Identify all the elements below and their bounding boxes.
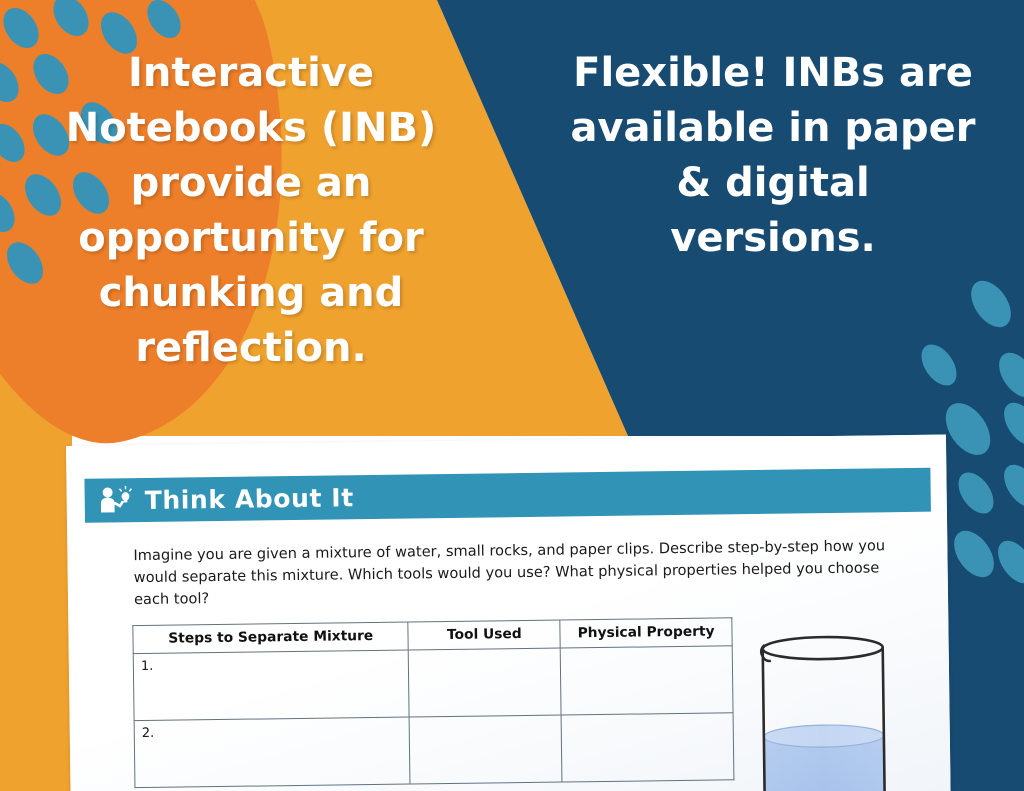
orange-left-strip	[0, 436, 72, 791]
person-with-lightbulb-icon	[99, 485, 133, 515]
cell-physical-property[interactable]	[561, 713, 734, 782]
cell-step-number[interactable]: 1.	[133, 650, 409, 721]
left-headline-text: Interactive Notebooks (INB) provide an o…	[60, 46, 442, 376]
prompt-text: Imagine you are given a mixture of water…	[133, 535, 894, 611]
column-header-property: Physical Property	[560, 618, 732, 648]
table-row[interactable]: 1.	[133, 646, 733, 721]
cell-tool-used[interactable]	[410, 715, 563, 784]
worksheet-page: Think About It Imagine you are given a m…	[66, 434, 951, 791]
banner-title: Think About It	[145, 483, 354, 515]
cell-step-number[interactable]: 2.	[134, 717, 410, 788]
beaker-with-water-rocks-paperclips-icon	[752, 617, 915, 791]
right-headline: Flexible! INBs are available in paper & …	[570, 46, 976, 266]
answer-table[interactable]: Steps to Separate Mixture Tool Used Phys…	[132, 617, 734, 788]
cell-physical-property[interactable]	[560, 646, 733, 715]
think-about-it-banner: Think About It	[84, 468, 931, 523]
column-header-tool: Tool Used	[408, 620, 560, 650]
slide-canvas: Interactive Notebooks (INB) provide an o…	[0, 0, 1024, 791]
cell-tool-used[interactable]	[409, 648, 562, 717]
right-headline-text: Flexible! INBs are available in paper & …	[570, 46, 976, 266]
worksheet-card[interactable]: Think About It Imagine you are given a m…	[66, 434, 951, 791]
left-headline: Interactive Notebooks (INB) provide an o…	[60, 46, 442, 376]
table-row[interactable]: 2.	[134, 713, 734, 788]
column-header-steps: Steps to Separate Mixture	[133, 622, 409, 654]
